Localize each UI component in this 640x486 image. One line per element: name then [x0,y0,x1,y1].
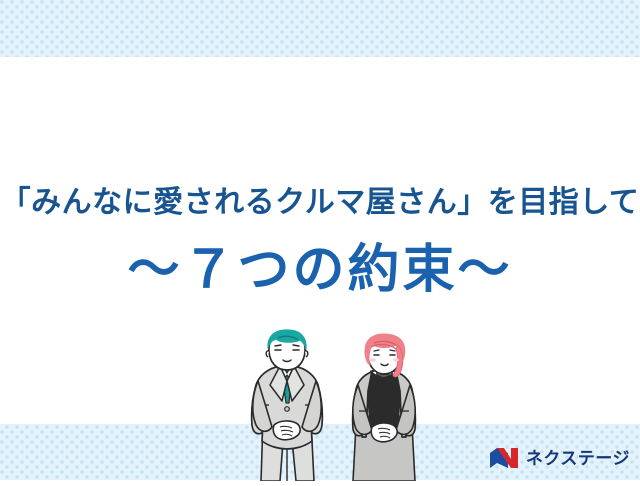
headline-line-1-wrap: 「みんなに愛されるクルマ屋さん」を目指して [0,186,640,220]
male-staff-figure [252,330,323,481]
nextage-n-mark-icon [489,447,519,469]
headline-line-1: 「みんなに愛されるクルマ屋さん」を目指して [0,186,640,220]
slide-canvas: 「みんなに愛されるクルマ屋さん」を目指して ～７つの約束～ [0,0,640,480]
nextage-logo: ネクステージ [489,444,630,472]
staff-illustration [236,329,432,481]
headline-line-2: ～７つの約束～ [0,241,640,299]
content-card: 「みんなに愛されるクルマ屋さん」を目指して ～７つの約束～ [0,57,640,424]
headline-line-2-wrap: ～７つの約束～ [0,241,640,299]
female-staff-figure [353,334,416,481]
nextage-logo-text: ネクステージ [526,450,630,467]
